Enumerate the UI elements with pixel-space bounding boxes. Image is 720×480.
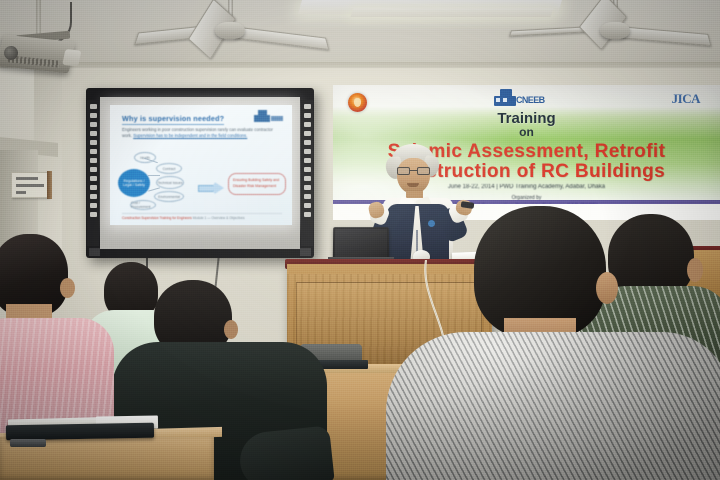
fluorescent-tube-light-inner [351,8,554,17]
slide-node-right: Contract [156,163,182,174]
classroom-photograph: Why is supervision needed? Engineers wor… [0,0,720,480]
fan-motor-housing [215,22,245,39]
slide-title: Why is supervision needed? [122,114,224,125]
plaque-frame-edge [47,171,52,199]
presenter-laptop-screen[interactable] [333,227,389,260]
black-document-folder [6,423,154,441]
audience-ear [596,272,618,304]
left-wall-recess [0,68,34,148]
slide-footer-red: Construction Supervision Training for En… [122,216,192,220]
cneeb-institution-logo: CNEEB [488,89,536,111]
slide-body-line1: Engineers working in poor construction s… [122,127,253,132]
slide-body-text: Engineers working in poor construction s… [122,127,278,139]
audience-member-pink-shirt [0,234,112,434]
audience-ear [60,278,75,298]
whiteboard-right-button-rail[interactable] [301,100,313,246]
eyeglasses-icon [397,167,430,175]
slide-footer-grey: Module 1 — Overview & Objectives [193,216,245,220]
slide-node-mid: Technical Issues [156,176,184,189]
whiteboard-left-button-rail[interactable] [87,100,99,246]
banner-subheading: on [333,125,720,139]
interactive-smart-whiteboard[interactable]: Why is supervision needed? Engineers wor… [86,88,314,258]
whiteboard-foot [300,248,311,256]
slide-rightwards-arrow [198,181,224,195]
fan-blade [617,26,712,46]
ceiling-fan-left [140,0,320,60]
projected-presentation-slide: Why is supervision needed? Engineers wor… [110,105,292,225]
audience-ear [224,320,238,339]
slide-body-underline: Supervision has to be independent and in… [133,133,247,138]
slide-outcome-box: Ensuring Building Safety and Disaster Ri… [228,173,286,195]
shirt-shading [386,332,720,480]
audience-member-grey-stripe [396,206,720,480]
audience-arm [237,425,334,480]
fan-blade [231,26,330,50]
slide-footer: Construction Supervision Training for En… [122,213,282,220]
slide-node-footer: Cost / Procurement [130,200,156,210]
cneeb-logo-text: CNEEB [516,95,545,105]
presenter-face [397,158,430,194]
slide-outcome-line2: Disaster Risk Management [233,183,281,189]
slide-node-bottom: Environmental [154,191,184,202]
ceiling-fan-right [530,0,700,58]
fan-motor-housing [600,22,630,39]
mobile-phone[interactable] [10,439,46,447]
cneeb-slide-logo [250,110,284,125]
audience-torso [386,332,720,480]
jica-logo: JICA [672,91,700,107]
wall-mounted-notice-plaque [11,172,49,198]
slide-center-bubble: Regulations / Legal / Safety [118,169,150,197]
projector-mount-rod [36,0,41,36]
